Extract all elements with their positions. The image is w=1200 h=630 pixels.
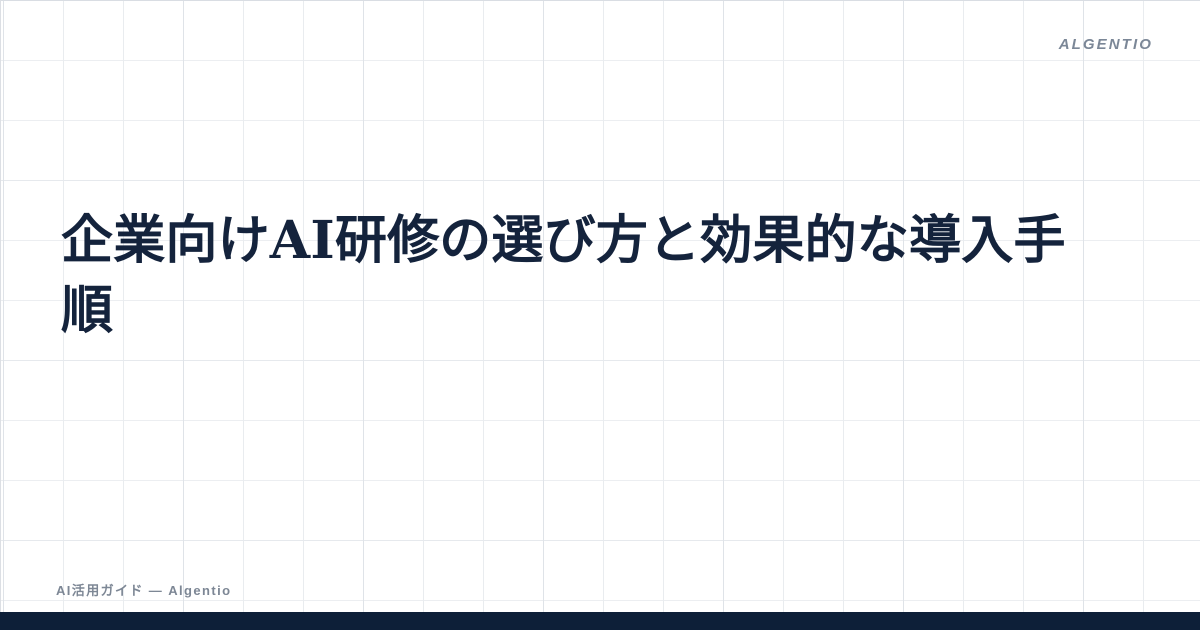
bottom-accent-bar — [0, 612, 1200, 630]
footer-caption: AI活用ガイド — Algentio — [56, 584, 231, 597]
brand-logo: ALGENTIO — [1059, 37, 1153, 52]
card-left-edge — [0, 0, 1, 630]
card-top-edge — [0, 0, 1200, 1]
social-share-card: ALGENTIO 企業向けAI研修の選び方と効果的な導入手順 AI活用ガイド —… — [0, 0, 1200, 630]
page-title: 企業向けAI研修の選び方と効果的な導入手順 — [61, 206, 1101, 346]
